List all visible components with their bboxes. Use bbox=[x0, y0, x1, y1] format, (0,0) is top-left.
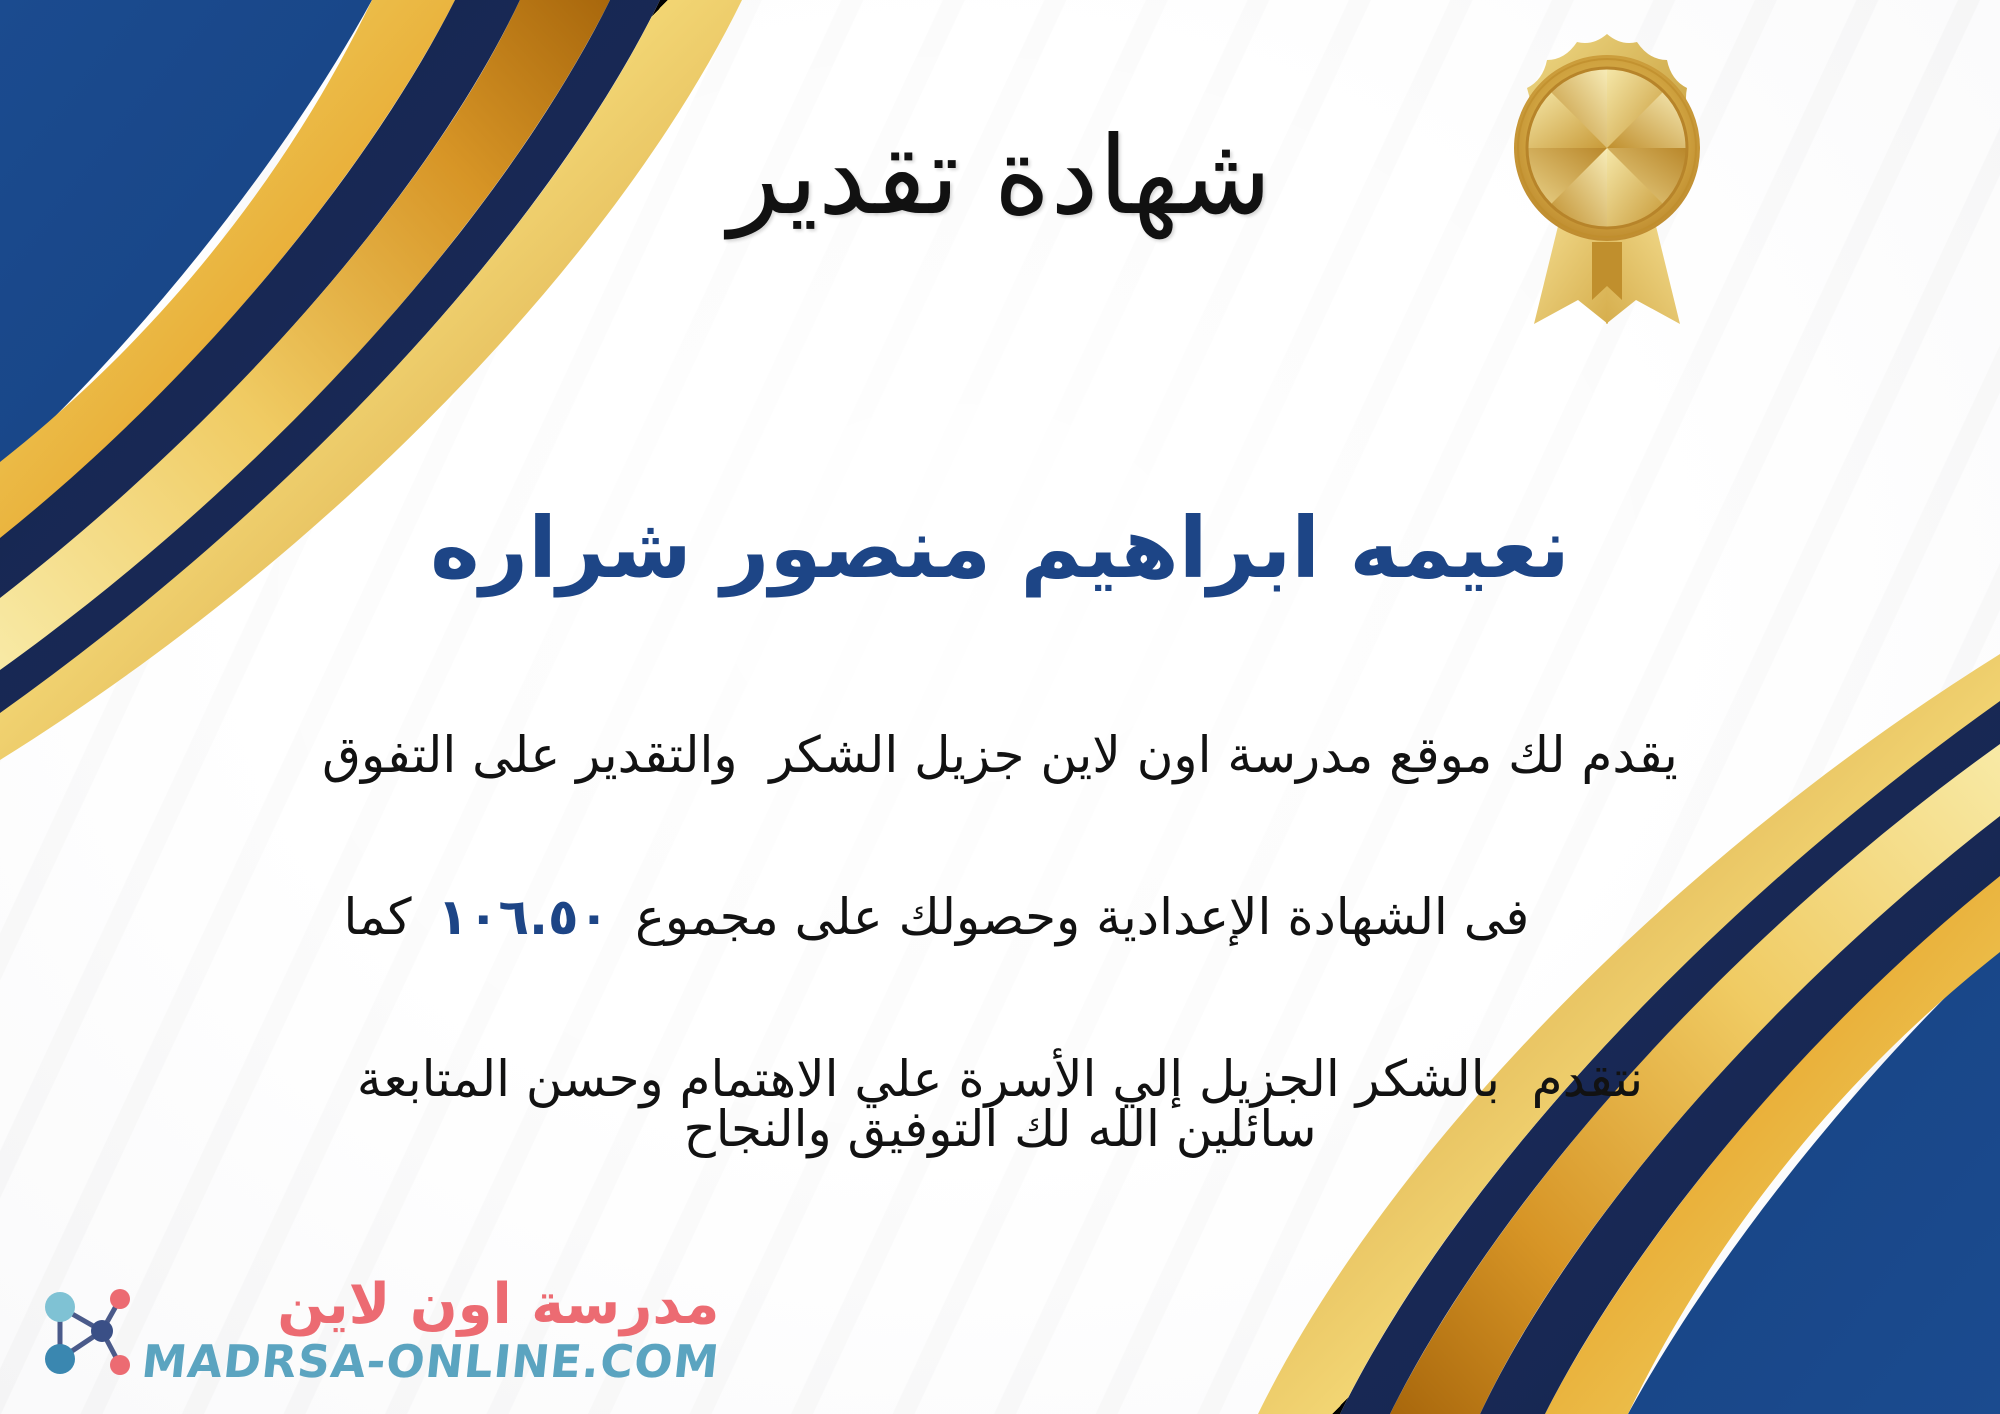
recipient-name: نعيمه ابراهيم منصور شراره bbox=[0, 500, 2000, 597]
body-line-1: يقدم لك موقع مدرسة اون لاين جزيل الشكر و… bbox=[56, 715, 1944, 796]
closing-statement: سائلين الله لك التوفيق والنجاح bbox=[0, 1100, 2000, 1158]
network-nodes-icon bbox=[34, 1277, 130, 1387]
score-value: ١٠٦.٥٠ bbox=[412, 888, 636, 946]
logo-website-url[interactable]: MADRSA-ONLINE.COM bbox=[139, 1335, 722, 1388]
certificate-page: شهادة تقدير نعيمه ابراهيم منصور شراره يق… bbox=[0, 0, 2000, 1414]
certificate-content: شهادة تقدير نعيمه ابراهيم منصور شراره يق… bbox=[0, 0, 2000, 1414]
brand-logo[interactable]: مدرسة اون لاين MADRSA-ONLINE.COM bbox=[34, 1276, 719, 1388]
logo-arabic-name: مدرسة اون لاين bbox=[277, 1276, 719, 1335]
logo-text-block: مدرسة اون لاين MADRSA-ONLINE.COM bbox=[142, 1276, 719, 1388]
page-title: شهادة تقدير bbox=[0, 120, 2000, 233]
body-line-2-after: كما bbox=[344, 888, 412, 946]
body-line-2: فى الشهادة الإعدادية وحصولك على مجموع١٠٦… bbox=[56, 796, 1944, 1039]
body-text: يقدم لك موقع مدرسة اون لاين جزيل الشكر و… bbox=[56, 715, 1944, 1120]
body-line-2-before: فى الشهادة الإعدادية وحصولك على مجموع bbox=[635, 888, 1529, 946]
